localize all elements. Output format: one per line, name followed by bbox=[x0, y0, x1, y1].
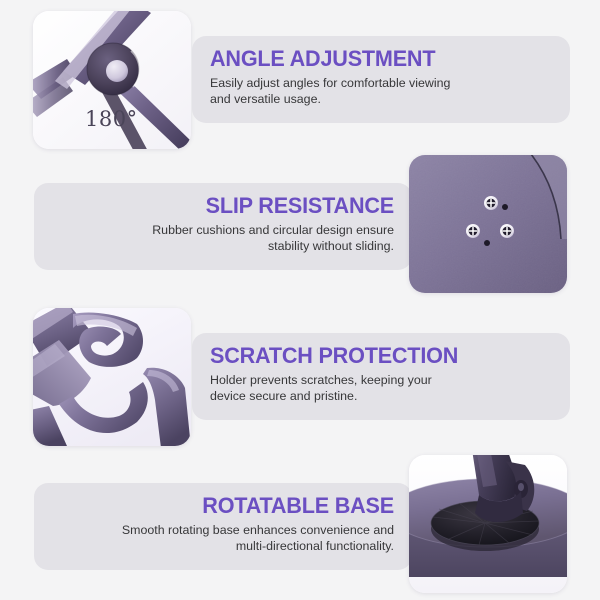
feature-text-card-rotatable-base: ROTATABLE BASE Smooth rotating base enha… bbox=[34, 483, 412, 570]
feature-text-card-slip-resistance: SLIP RESISTANCE Rubber cushions and circ… bbox=[34, 183, 412, 270]
hinge-closeup-photo: 180° bbox=[33, 11, 191, 149]
feature-description-rotatable-base: Smooth rotating base enhances convenienc… bbox=[52, 522, 394, 555]
feature-title-slip-resistance: SLIP RESISTANCE bbox=[66, 192, 394, 219]
angle-degree-label: 180° bbox=[85, 107, 138, 131]
rubber-cushions-illustration bbox=[409, 155, 567, 293]
rubber-cushions-photo bbox=[409, 155, 567, 293]
feature-row-rotatable-base: ROTATABLE BASE Smooth rotating base enha… bbox=[0, 447, 600, 597]
rotating-base-photo bbox=[409, 455, 567, 593]
holder-clips-illustration bbox=[33, 308, 191, 446]
feature-title-scratch-protection: SCRATCH PROTECTION bbox=[210, 342, 538, 369]
feature-title-angle-adjustment: ANGLE ADJUSTMENT bbox=[210, 45, 538, 72]
feature-text-card-angle-adjustment: ANGLE ADJUSTMENT Easily adjust angles fo… bbox=[192, 36, 570, 123]
feature-description-scratch-protection: Holder prevents scratches, keeping your … bbox=[210, 372, 552, 405]
feature-description-slip-resistance: Rubber cushions and circular design ensu… bbox=[52, 222, 394, 255]
holder-clips-photo bbox=[33, 308, 191, 446]
feature-title-rotatable-base: ROTATABLE BASE bbox=[66, 492, 394, 519]
feature-description-angle-adjustment: Easily adjust angles for comfortable vie… bbox=[210, 75, 552, 108]
feature-row-slip-resistance: SLIP RESISTANCE Rubber cushions and circ… bbox=[0, 147, 600, 297]
rotating-base-illustration bbox=[409, 455, 567, 593]
product-feature-infographic: 180° ANGLE ADJUSTMENT Easily adjust angl… bbox=[0, 0, 600, 600]
feature-text-card-scratch-protection: SCRATCH PROTECTION Holder prevents scrat… bbox=[192, 333, 570, 420]
feature-row-angle-adjustment: 180° ANGLE ADJUSTMENT Easily adjust angl… bbox=[0, 0, 600, 150]
feature-row-scratch-protection: SCRATCH PROTECTION Holder prevents scrat… bbox=[0, 297, 600, 447]
